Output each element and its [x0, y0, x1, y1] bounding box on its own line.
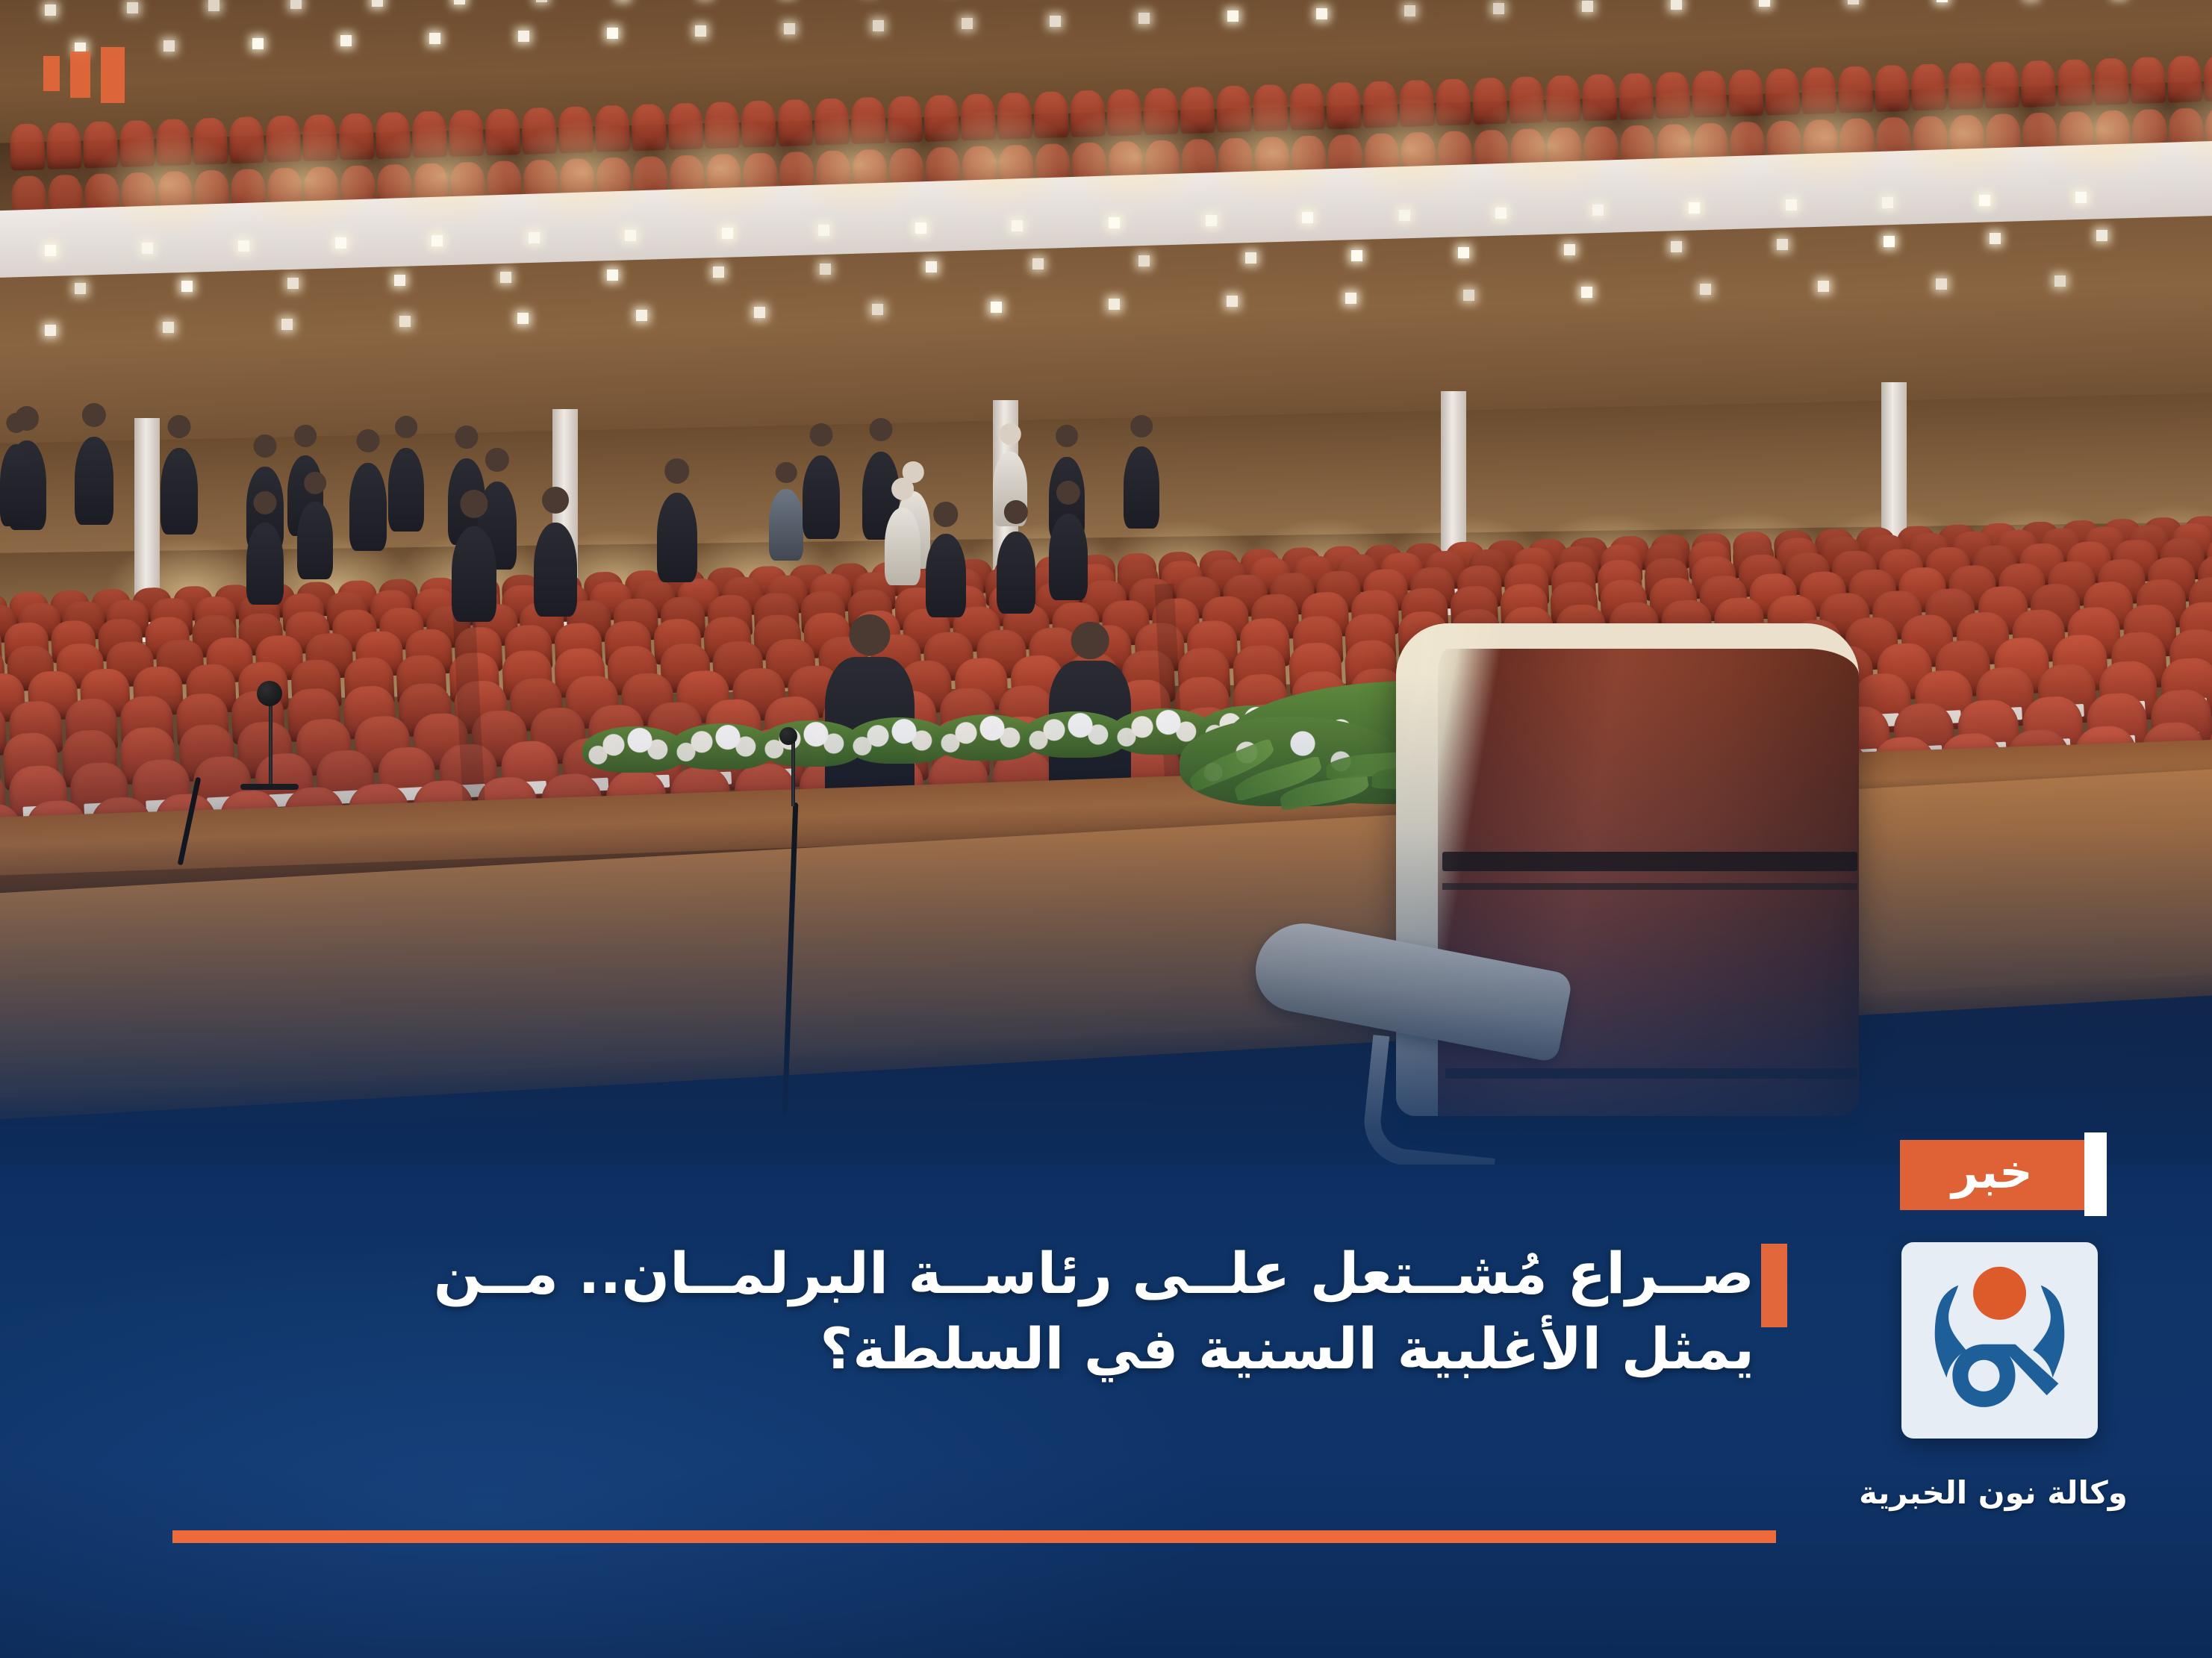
- news-card: خبر صــراع مُشــتعل علــى رئاســة البرلم…: [0, 0, 2212, 1658]
- attendee: [997, 532, 1035, 614]
- attendee: [1124, 446, 1159, 529]
- ceiling-light: [1138, 13, 1150, 24]
- headline-line-2: يمثل الأغلبية السنية في السلطة؟: [105, 1311, 1754, 1386]
- mic-stand: [791, 739, 795, 806]
- ceiling-light: [252, 38, 264, 49]
- ceiling-light: [1671, 0, 1682, 10]
- attendee: [769, 489, 803, 561]
- ceiling-light: [1848, 0, 1859, 4]
- attendee-head: [1056, 425, 1078, 447]
- wall-glow: [918, 109, 1075, 214]
- attendee: [349, 463, 387, 551]
- ceiling-light: [127, 2, 138, 13]
- mic-stand: [269, 694, 272, 784]
- attendee: [297, 502, 333, 579]
- wall-glow: [1471, 93, 1627, 198]
- ceiling-light: [1404, 5, 1415, 16]
- ceiling-light: [1786, 199, 1797, 211]
- wall-glow: [1056, 105, 1213, 209]
- wall-glow: [504, 120, 661, 225]
- ceiling-light: [2075, 192, 2087, 203]
- attendee: [657, 493, 697, 582]
- attendee-head: [455, 426, 479, 449]
- wall-glow: [1885, 81, 2042, 186]
- ceiling-light: [1399, 210, 1410, 221]
- wall-glow: [642, 116, 799, 221]
- attendee: [388, 448, 424, 532]
- ceiling-light: [1882, 197, 1893, 208]
- attendee: [534, 523, 577, 617]
- ceiling-light: [1937, 0, 1948, 2]
- parliament-photo: [0, 0, 2212, 1165]
- wall-glow: [1609, 90, 1766, 194]
- ceiling-light: [1109, 217, 1120, 228]
- ceiling-light: [529, 232, 540, 243]
- ceiling-light: [536, 0, 547, 2]
- ceiling-light: [1050, 16, 1061, 27]
- ceiling-light: [1990, 233, 2001, 244]
- ceiling-light: [1592, 205, 1604, 216]
- attendee: [1049, 514, 1088, 600]
- attendee: [803, 455, 840, 539]
- chair-band-lower: [1445, 1068, 1857, 1079]
- attendee-head: [395, 416, 417, 438]
- wall-glow: [90, 132, 246, 237]
- ceiling-light: [607, 28, 618, 39]
- chair-band-upper-thin: [1442, 883, 1857, 890]
- attendee: [75, 437, 113, 525]
- ceiling-light: [45, 4, 56, 16]
- agency-name: وكالة نون الخبرية: [1784, 1474, 2202, 1511]
- gallery-seat: [10, 123, 46, 170]
- attendee: [246, 523, 284, 605]
- watermark-bar-1: [101, 47, 125, 103]
- attendee-head: [1000, 423, 1021, 445]
- attendee: [885, 508, 920, 585]
- headline: صــراع مُشــتعل علــى رئاســة البرلمــان…: [105, 1235, 1754, 1386]
- gallery-seat: [46, 122, 82, 169]
- ceiling-light: [163, 40, 175, 52]
- ceiling-light: [1227, 10, 1239, 22]
- watermark-bar-3: [43, 56, 60, 91]
- ceiling-light: [1979, 195, 1990, 206]
- agency-logo[interactable]: [1901, 1242, 2098, 1439]
- wall-glow: [2023, 78, 2180, 182]
- wall-glow: [1333, 97, 1489, 202]
- ceiling-light: [429, 33, 440, 44]
- attendee-head: [870, 418, 893, 441]
- attendee-head: [891, 478, 914, 500]
- ceiling-light: [1302, 212, 1313, 223]
- ceiling-light: [1206, 215, 1217, 226]
- logo-orange-dot: [1973, 1267, 2026, 1320]
- ceiling-light: [372, 0, 383, 7]
- watermark-bar-2: [70, 52, 90, 98]
- attendee-head: [810, 423, 833, 446]
- mic-head: [257, 681, 282, 706]
- ceiling-light: [1012, 220, 1023, 231]
- attendee: [926, 534, 966, 617]
- seated-official-head: [1071, 622, 1109, 660]
- ceiling-light: [915, 222, 926, 234]
- wall-glow: [780, 113, 937, 217]
- ceiling-light: [962, 18, 973, 29]
- noon-logo-icon: [1901, 1242, 2098, 1439]
- ceiling-light: [1759, 0, 1770, 7]
- attendee: [161, 448, 198, 535]
- ceiling-light: [722, 228, 733, 239]
- corner-watermark-mark: [43, 47, 125, 103]
- chair-band-upper: [1442, 852, 1857, 871]
- attendee-head: [294, 425, 317, 447]
- news-category-badge[interactable]: خبر: [1900, 1140, 2084, 1210]
- mic-head: [779, 727, 797, 745]
- attendee-head: [254, 434, 277, 458]
- ceiling-light: [1493, 3, 1504, 14]
- chair-armrest-post: [1360, 1035, 1507, 1165]
- attendee: [452, 526, 496, 622]
- headline-underline: [172, 1530, 1776, 1543]
- mic-base: [240, 784, 299, 790]
- attendee-head: [542, 487, 569, 514]
- news-badge-label: خبر: [1951, 1149, 2033, 1195]
- wall-glow: [228, 128, 384, 232]
- ceiling-light: [2096, 230, 2107, 241]
- ceiling-light: [454, 0, 465, 4]
- headline-accent-bar: [1761, 1244, 1787, 1327]
- ceiling-light: [818, 225, 829, 236]
- ceiling-light: [340, 35, 352, 46]
- ceiling-light: [290, 0, 302, 9]
- ceiling-light: [1316, 8, 1327, 19]
- attendee: [0, 444, 33, 526]
- ceiling-light: [873, 20, 884, 31]
- ceiling-light: [1884, 236, 1895, 247]
- wall-glow: [1194, 101, 1351, 205]
- ceiling-light: [208, 0, 219, 11]
- seated-official-head: [849, 614, 890, 655]
- ceiling-light: [784, 23, 795, 34]
- ceiling-light: [695, 25, 706, 37]
- presiding-officer-chair: [1269, 623, 1866, 1165]
- attendee-head: [1130, 415, 1153, 437]
- news-badge-white-bar: [2084, 1132, 2107, 1216]
- attendee-head: [357, 429, 380, 452]
- ceiling-light: [518, 31, 529, 42]
- wall-glow: [1747, 85, 1904, 190]
- logo-right-arc: [2033, 1285, 2064, 1378]
- ceiling-light: [432, 235, 443, 246]
- ceiling-light: [1582, 1, 1593, 12]
- attendee-head: [254, 491, 277, 514]
- headline-line-1: صــراع مُشــتعل علــى رئاســة البرلمــان…: [105, 1235, 1754, 1311]
- wall-glow: [366, 124, 523, 228]
- attendee-head: [304, 472, 326, 494]
- attendee-head: [776, 462, 797, 484]
- ceiling-light: [1495, 208, 1507, 219]
- ceiling-light: [1689, 202, 1700, 214]
- ceiling-light: [625, 230, 636, 241]
- attendee-head: [168, 415, 191, 438]
